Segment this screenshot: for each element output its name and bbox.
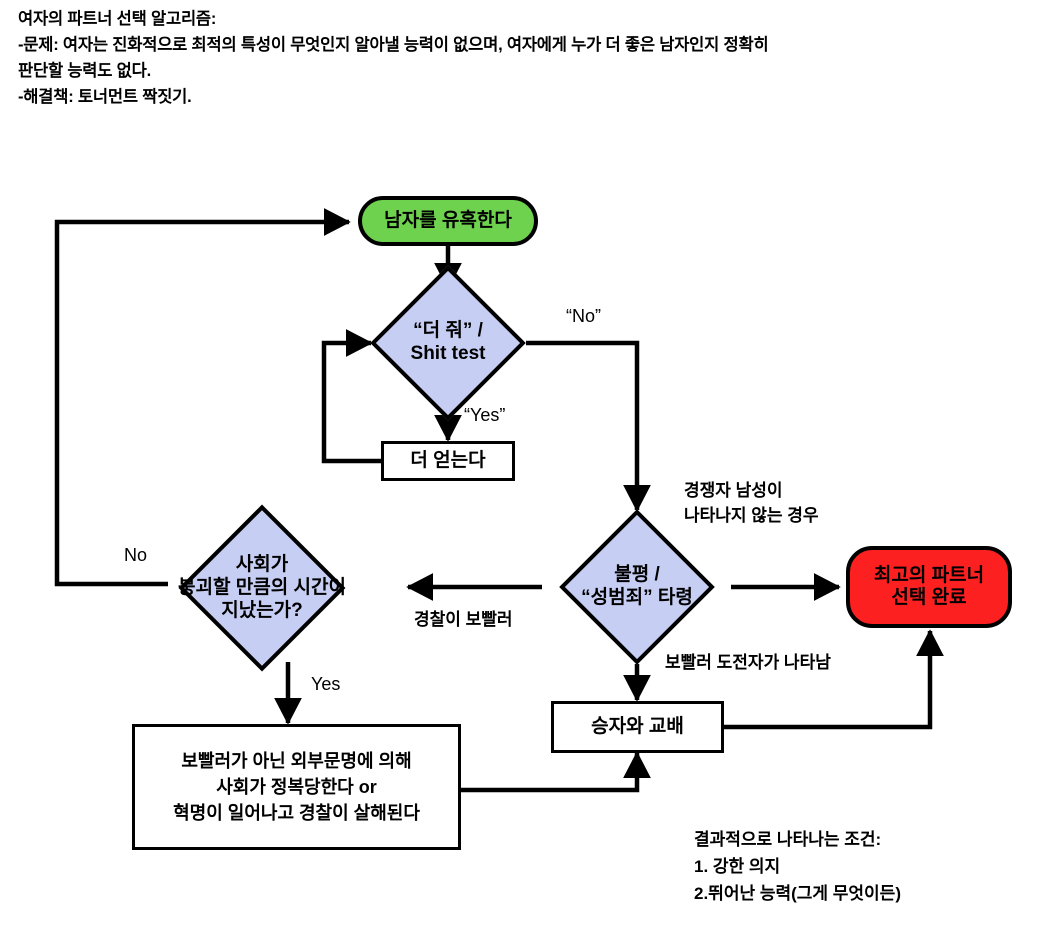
edge-label-challenger: 보빨러 도전자가 나타남 (665, 651, 831, 676)
edge-mate-to-done (724, 631, 930, 727)
edge-shittest-to-complain (526, 343, 637, 510)
edge-label-no-collapse: No (124, 544, 147, 567)
node-shit-test[interactable]: “더 줘” / Shit test (393, 288, 503, 398)
edge-label-yes-collapse: Yes (311, 673, 340, 696)
node-shit-test-label: “더 줘” / Shit test (318, 320, 578, 366)
node-seduce[interactable]: 남자를 유혹한다 (358, 196, 538, 246)
edge-label-yes-shittest: “Yes” (464, 404, 505, 427)
node-complain[interactable]: 불평 / “성범죄” 타령 (582, 532, 692, 642)
node-selection-complete[interactable]: 최고의 파트너 선택 완료 (846, 546, 1012, 628)
node-society-collapsed-label: 사회가 붕괴할 만큼의 시간이 지났는가? (132, 554, 392, 622)
node-mate-with-winner[interactable]: 승자와 교배 (551, 701, 724, 753)
header-description: 여자의 파트너 선택 알고리즘: -문제: 여자는 진화적으로 최적의 특성이 … (18, 6, 1043, 110)
footnote-resulting-conditions: 결과적으로 나타나는 조건: 1. 강한 의지 2.뛰어난 능력(그게 무엇이든… (694, 826, 901, 908)
edge-label-no-shittest: “No” (566, 305, 601, 328)
node-complain-label: 불평 / “성범죄” 타령 (507, 564, 767, 610)
node-society-conquered[interactable]: 보빨러가 아닌 외부문명에 의해 사회가 정복당한다 or 혁명이 일어나고 경… (132, 724, 461, 850)
edge-conquered-to-mate (460, 753, 637, 790)
node-society-collapsed[interactable]: 사회가 붕괴할 만큼의 시간이 지났는가? (203, 529, 321, 647)
edge-label-police: 경찰이 보빨러 (414, 608, 513, 633)
node-get-more[interactable]: 더 얻는다 (381, 441, 515, 481)
edge-label-no-rival: 경쟁자 남성이 나타나지 않는 경우 (684, 479, 819, 528)
